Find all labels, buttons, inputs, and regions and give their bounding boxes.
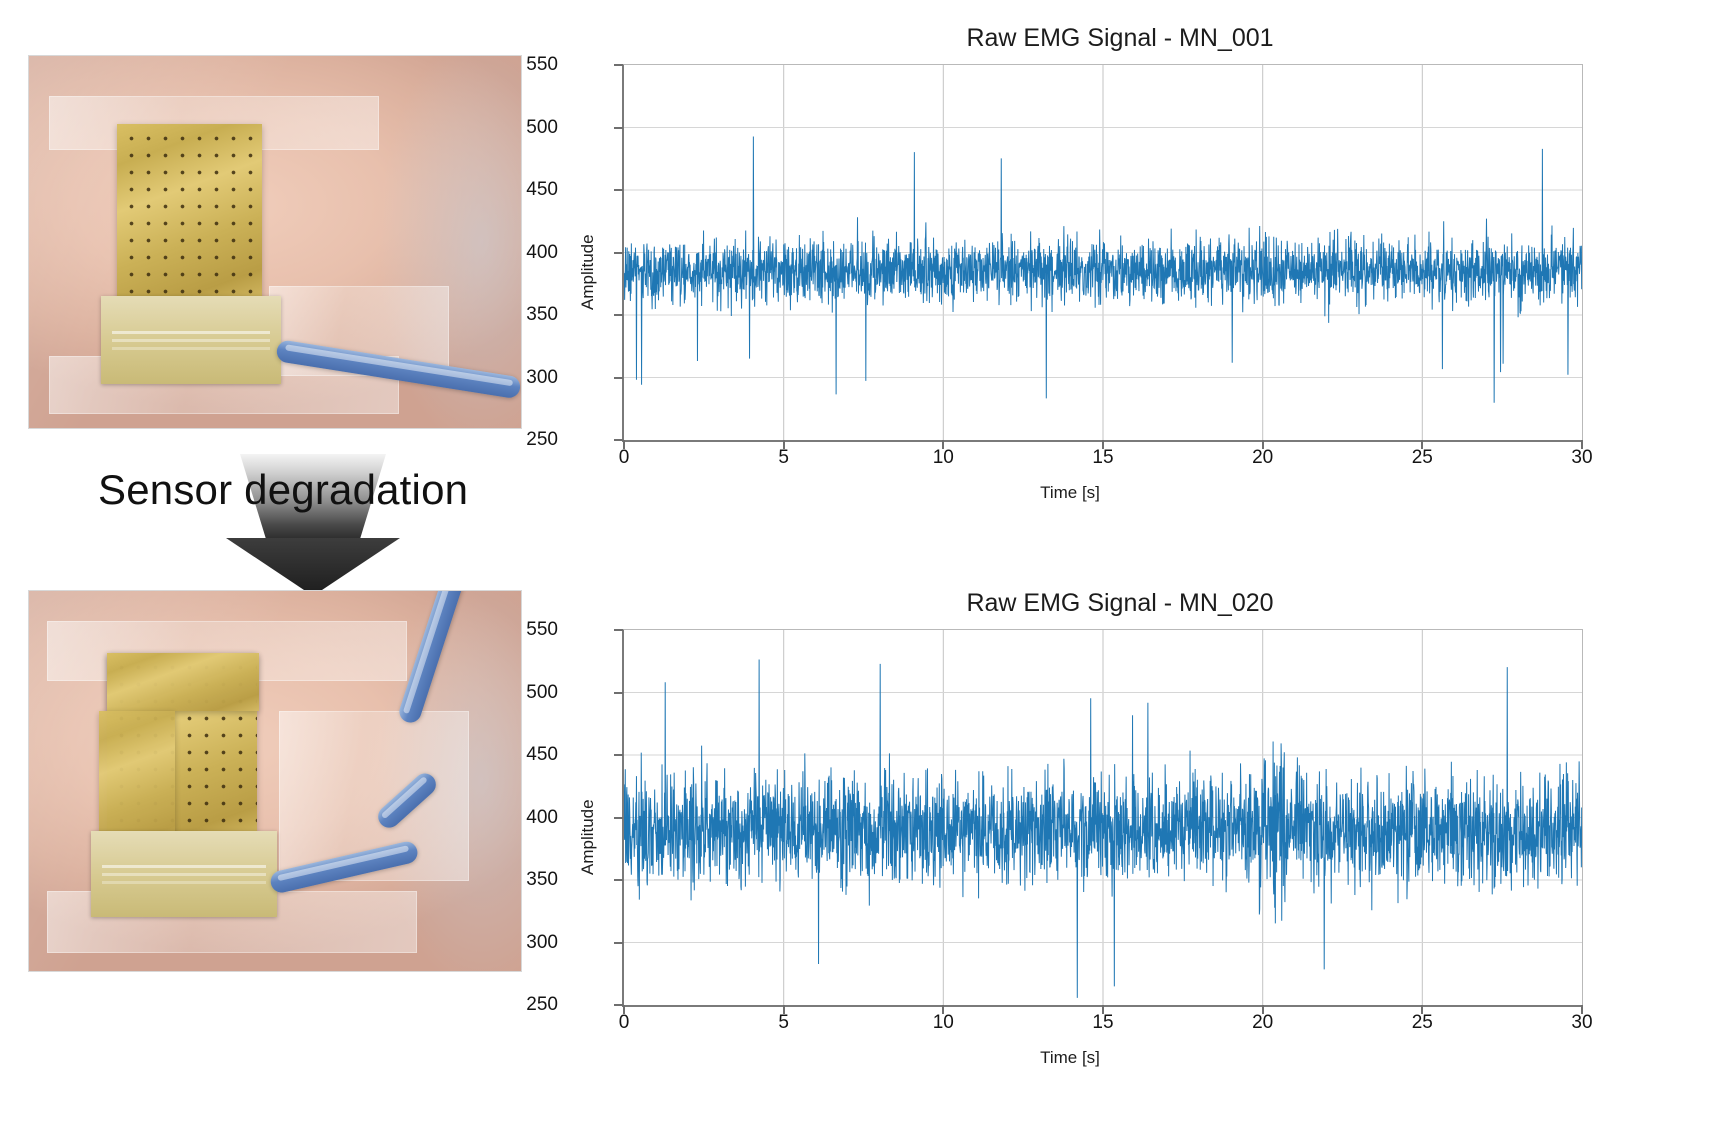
x-tick-label: 25: [1387, 447, 1457, 469]
chart-title: Raw EMG Signal - MN_020: [560, 589, 1680, 618]
sensor-photo-degraded: [28, 590, 522, 972]
x-tick-mark: [1102, 440, 1104, 449]
y-axis-label: Amplitude: [578, 799, 598, 875]
x-tick-label: 0: [589, 1012, 659, 1034]
x-axis-label: Time [s]: [560, 1048, 1580, 1068]
x-tick-mark: [783, 1005, 785, 1014]
y-tick-label: 400: [488, 242, 558, 264]
y-tick-label: 450: [488, 744, 558, 766]
x-tick-mark: [783, 440, 785, 449]
y-tick-label: 450: [488, 179, 558, 201]
x-tick-label: 20: [1228, 1012, 1298, 1034]
signal-plot-svg: [624, 630, 1582, 1005]
x-tick-label: 20: [1228, 447, 1298, 469]
x-tick-mark: [942, 1005, 944, 1014]
sensor-degradation-label: Sensor degradation: [98, 466, 468, 514]
y-tick-mark: [614, 127, 623, 129]
electrode-connector: [101, 296, 281, 384]
chart-title: Raw EMG Signal - MN_001: [560, 24, 1680, 53]
x-tick-mark: [1581, 1005, 1583, 1014]
x-tick-label: 25: [1387, 1012, 1457, 1034]
x-tick-mark: [1581, 440, 1583, 449]
x-tick-mark: [623, 440, 625, 449]
plot-area: 550 500 450 400 350 300 250 0 5 10 15 20…: [622, 64, 1583, 442]
y-tick-label: 500: [488, 682, 558, 704]
x-tick-label: 15: [1068, 447, 1138, 469]
y-tick-mark: [614, 879, 623, 881]
x-tick-label: 5: [749, 1012, 819, 1034]
y-tick-label: 400: [488, 807, 558, 829]
figure-root: Sensor degradation Raw EMG Signal - MN_0…: [0, 0, 1714, 1141]
x-tick-label: 30: [1547, 447, 1617, 469]
y-tick-mark: [614, 754, 623, 756]
y-tick-label: 550: [488, 54, 558, 76]
x-tick-label: 15: [1068, 1012, 1138, 1034]
degradation-annotation: Sensor degradation: [40, 448, 510, 598]
signal-plot-svg: [624, 65, 1582, 440]
y-tick-mark: [614, 314, 623, 316]
x-tick-label: 0: [589, 447, 659, 469]
y-tick-label: 300: [488, 367, 558, 389]
y-tick-label: 350: [488, 304, 558, 326]
y-tick-label: 300: [488, 932, 558, 954]
electrode-dot-grid: [117, 124, 262, 304]
down-arrow-head-icon: [226, 538, 400, 596]
x-tick-label: 10: [908, 1012, 978, 1034]
y-tick-mark: [614, 252, 623, 254]
x-tick-mark: [942, 440, 944, 449]
chart-mn-020: Raw EMG Signal - MN_020 Amplitude: [560, 585, 1680, 1085]
y-tick-label: 250: [488, 429, 558, 451]
x-tick-mark: [1262, 440, 1264, 449]
y-tick-mark: [614, 817, 623, 819]
y-tick-label: 500: [488, 117, 558, 139]
y-tick-label: 550: [488, 619, 558, 641]
electrode-connector: [91, 831, 277, 917]
y-axis-label: Amplitude: [578, 234, 598, 310]
y-tick-mark: [614, 439, 623, 441]
y-tick-mark: [614, 377, 623, 379]
sensor-photo-pristine: [28, 55, 522, 429]
x-tick-label: 10: [908, 447, 978, 469]
peeling-gold-foil: [99, 711, 175, 851]
peeling-gold-foil: [107, 653, 259, 711]
x-tick-mark: [1421, 440, 1423, 449]
y-tick-mark: [614, 629, 623, 631]
y-tick-mark: [614, 189, 623, 191]
y-tick-mark: [614, 64, 623, 66]
chart-mn-001: Raw EMG Signal - MN_001 Amplitude: [560, 20, 1680, 520]
x-tick-mark: [1102, 1005, 1104, 1014]
x-axis-label: Time [s]: [560, 483, 1580, 503]
plot-area: 550 500 450 400 350 300 250 0 5 10 15 20…: [622, 629, 1583, 1007]
x-tick-label: 30: [1547, 1012, 1617, 1034]
y-tick-label: 350: [488, 869, 558, 891]
x-tick-mark: [1421, 1005, 1423, 1014]
y-tick-mark: [614, 1004, 623, 1006]
y-tick-label: 250: [488, 994, 558, 1016]
x-tick-mark: [623, 1005, 625, 1014]
y-tick-mark: [614, 692, 623, 694]
x-tick-label: 5: [749, 447, 819, 469]
x-tick-mark: [1262, 1005, 1264, 1014]
gold-electrode-array: [117, 124, 262, 304]
y-tick-mark: [614, 942, 623, 944]
